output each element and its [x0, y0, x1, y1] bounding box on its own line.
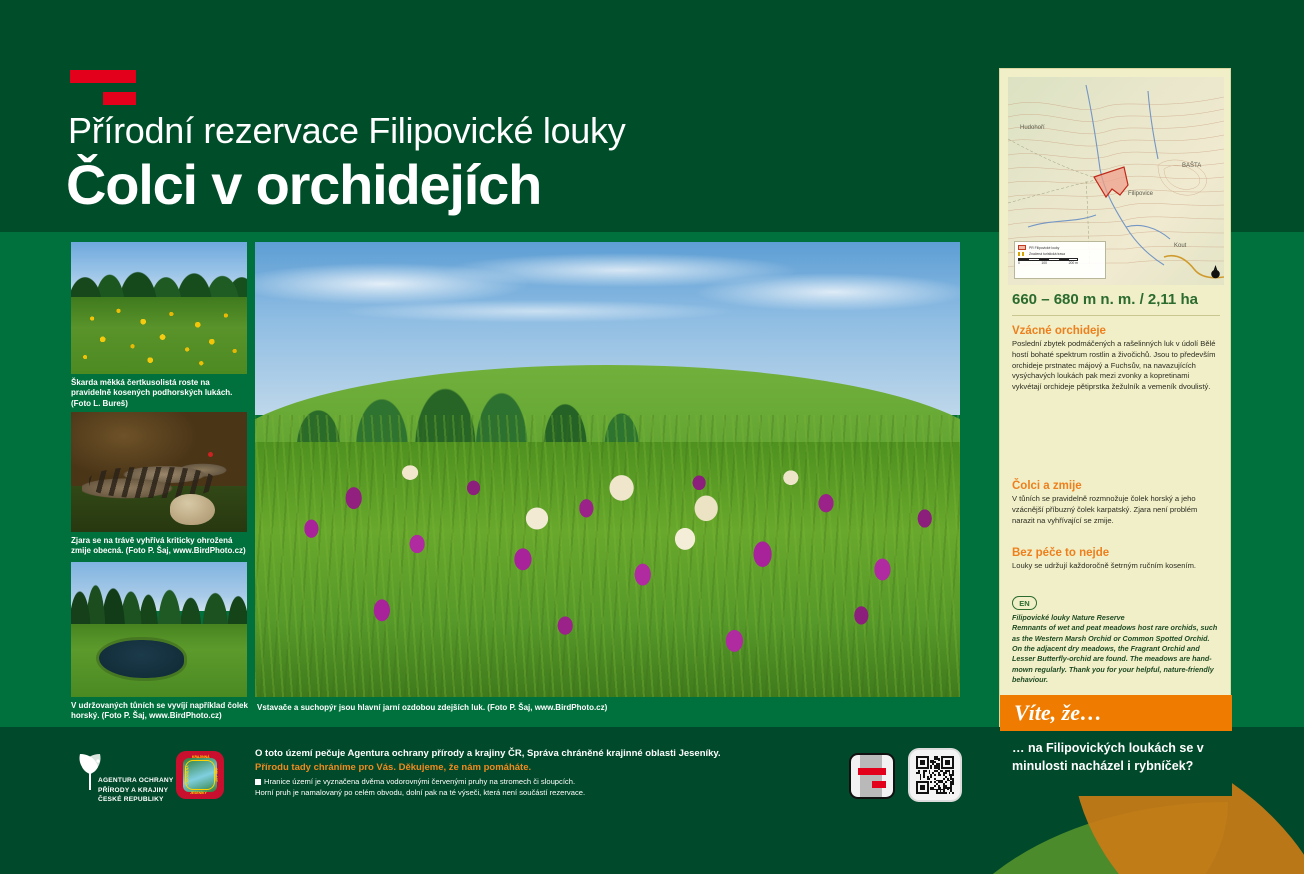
map-north-arrow-icon: [1211, 265, 1220, 279]
did-you-know-label: Víte, že…: [1000, 700, 1102, 726]
aopk-text-line2: PŘÍRODY A KRAJINY: [98, 786, 174, 796]
panel-divider: [1012, 315, 1220, 316]
page-title: Čolci v orchidejích: [66, 152, 541, 217]
map-label-filipovice: Filipovice: [1128, 191, 1153, 197]
altitude-area-value: 660 – 680 m n. m. / 2,11 ha: [1012, 291, 1220, 308]
map-legend: PR Filipovické louky Značená turistická …: [1014, 241, 1106, 279]
bullet-square-icon: [255, 779, 261, 785]
map-label-kout: Kout: [1174, 243, 1186, 249]
english-title: Filipovické louky Nature Reserve: [1012, 613, 1220, 623]
section-body: Louky se udržují každoročně šetrným ručn…: [1012, 561, 1220, 572]
footer-note-line1: Hranice území je vyznačena dvěma vodorov…: [264, 777, 575, 786]
chko-jeseniky-badge: KRAJINNÁ CHRÁNĚNÁ OBLAST JESENÍKY: [176, 751, 224, 799]
aopk-logo-text: AGENTURA OCHRANY PŘÍRODY A KRAJINY ČESKÉ…: [98, 776, 174, 805]
qr-code-icon: [916, 756, 954, 794]
info-board: Přírodní rezervace Filipovické louky Čol…: [0, 0, 1304, 874]
tourist-marker-logo-icon: [70, 70, 136, 106]
chko-label-top: KRAJINNÁ: [192, 755, 210, 759]
boundary-marker-badge[interactable]: [849, 753, 895, 799]
footer-boundary-note: Hranice území je vyznačena dvěma vodorov…: [255, 776, 585, 798]
scale-mid: 100: [1041, 261, 1047, 265]
english-body: Remnants of wet and peat meadows host ra…: [1012, 623, 1217, 684]
footer-custodian-text: O toto území pečuje Agentura ochrany pří…: [255, 748, 721, 759]
legend-route-label: Značená turistická trasa: [1029, 252, 1065, 256]
aopk-text-line3: ČESKÉ REPUBLIKY: [98, 795, 174, 805]
page-subtitle: Přírodní rezervace Filipovické louky: [68, 110, 625, 152]
legend-route-swatch: [1018, 252, 1026, 256]
legend-reserve-swatch: [1018, 245, 1026, 250]
scale-start: 0: [1018, 261, 1020, 265]
section-heading: Bez péče to nejde: [1012, 547, 1220, 559]
map-label-basta: BAŠTA: [1182, 163, 1201, 169]
qr-code-badge[interactable]: [910, 750, 960, 800]
section-heading: Čolci a zmije: [1012, 480, 1220, 492]
footer-thanks-text: Přírodu tady chráníme pro Vás. Děkujeme,…: [255, 762, 531, 773]
section-heading: Vzácné orchideje: [1012, 325, 1220, 337]
section-body: Poslední zbytek podmáčených a rašelinnýc…: [1012, 339, 1220, 393]
section-management: Bez péče to nejde Louky se udržují každo…: [1012, 547, 1220, 572]
photo-caption-adder-snake: Zjara se na trávě vyhřívá kriticky ohrož…: [71, 536, 249, 557]
scale-end: 200 m: [1069, 261, 1078, 265]
photo-orchid-meadow-main: [255, 242, 960, 697]
photo-yellow-meadow: [71, 242, 247, 374]
english-summary: Filipovické louky Nature Reserve Remnant…: [1012, 613, 1220, 686]
chko-label-bottom: JESENÍKY: [190, 791, 207, 795]
photo-pond-meadow: [71, 562, 247, 697]
section-body: V tůních se pravidelně rozmnožuje čolek …: [1012, 494, 1220, 526]
chko-label-right: OBLAST: [214, 768, 218, 782]
photo-caption-pond-meadow: V udržovaných tůních se vyvíjí například…: [71, 701, 249, 722]
map-label-hudohori: Hudohoří: [1020, 125, 1045, 131]
photo-adder-snake: [71, 412, 247, 532]
info-panel: Hudohoří Filipovice BAŠTA Kout PR Filipo…: [999, 68, 1231, 727]
language-badge-en: EN: [1012, 596, 1037, 610]
photo-caption-yellow-meadow: Škarda měkká čertkusolistá roste na prav…: [71, 378, 249, 409]
section-newts-vipers: Čolci a zmije V tůních se pravidelně roz…: [1012, 480, 1220, 526]
did-you-know-body: … na Filipovických loukách se v minulost…: [1000, 731, 1232, 796]
legend-reserve-label: PR Filipovické louky: [1029, 246, 1059, 250]
aopk-text-line1: AGENTURA OCHRANY: [98, 776, 174, 786]
footer-note-line2: Horní pruh je namalovaný po celém obvodu…: [255, 787, 585, 798]
did-you-know-bar: Víte, že…: [1000, 695, 1232, 731]
chko-label-left: CHRÁNĚNÁ: [186, 765, 190, 784]
section-rare-orchids: Vzácné orchideje Poslední zbytek podmáče…: [1012, 325, 1220, 393]
locality-map[interactable]: Hudohoří Filipovice BAŠTA Kout PR Filipo…: [1008, 77, 1224, 285]
photo-caption-main: Vstavače a suchopýr jsou hlavní jarní oz…: [257, 703, 957, 713]
